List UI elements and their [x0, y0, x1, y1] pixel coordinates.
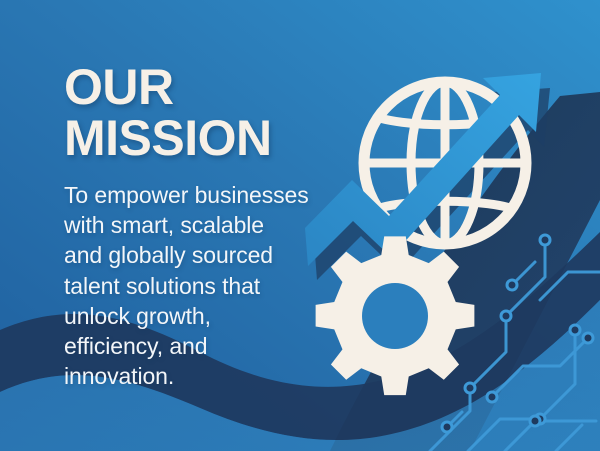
body-line-6: efficiency, and [64, 331, 339, 361]
body-line-2: with smart, scalable [64, 210, 339, 240]
body-line-1: To empower businesses [64, 180, 339, 210]
mission-poster: OUR MISSION To empower businesses with s… [0, 0, 600, 451]
page-title: OUR MISSION [64, 62, 364, 164]
body-line-4: talent solutions that [64, 271, 339, 301]
text-layer: OUR MISSION To empower businesses with s… [0, 0, 600, 451]
body-line-7: innovation. [64, 361, 339, 391]
headline-line-1: OUR [64, 62, 364, 113]
mission-statement: To empower businesses with smart, scalab… [64, 180, 339, 391]
body-line-3: and globally sourced [64, 240, 339, 270]
headline-line-2: MISSION [64, 113, 364, 164]
body-line-5: unlock growth, [64, 301, 339, 331]
